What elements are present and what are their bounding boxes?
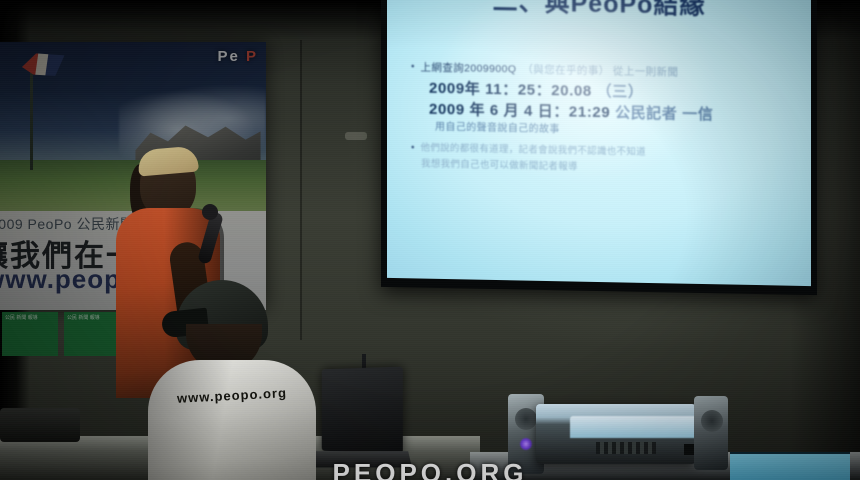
laptop-screen — [322, 367, 403, 454]
slide-title: 二、與PeoPo結緣 — [387, 0, 811, 24]
tshirt-shading — [148, 360, 316, 480]
laptop-keyboard — [304, 451, 412, 467]
presenter-headband — [137, 145, 199, 176]
poster-logo-accent: P — [246, 48, 258, 65]
speaker-right — [694, 396, 728, 470]
projector-rig — [508, 394, 728, 480]
slide-body: • 上網查詢2009900Q （與您在乎的事） 從上一則新聞 2009年 11：… — [411, 60, 801, 178]
speaker-cone-icon — [701, 410, 723, 432]
projection-screen: 二、與PeoPo結緣 • 上網查詢2009900Q （與您在乎的事） 從上一則新… — [387, 0, 811, 286]
presenter-laptop — [310, 368, 410, 480]
slide-line-1-tail: （三） — [597, 83, 644, 101]
poster-peopo-logo: Pe P — [217, 48, 258, 65]
blue-monitor — [730, 452, 850, 480]
slide-bullet-1-tail: （與您在乎的事） 從上一則新聞 — [522, 63, 678, 81]
slide-bullet-2-text: 他們說的都很有道理，記者會說我們不認識也不知道 — [421, 142, 646, 160]
video-frame: Pe P 2009 PeoPo 公民新聞獎頒獎典禮 讓我們在一起 www.peo… — [0, 0, 860, 480]
microphone-head-icon — [202, 204, 218, 220]
speaker-cone-icon — [515, 408, 537, 430]
door-handle — [345, 132, 367, 140]
table-projector — [536, 404, 696, 464]
slide-line-2-text: 2009 年 6 月 4 日：21:29 — [429, 101, 610, 121]
bullet-icon: • — [411, 141, 415, 155]
slide-bullet-1-text: 上網查詢2009900Q — [421, 61, 517, 78]
poster-logo-main: Pe — [217, 48, 239, 65]
table-device — [0, 408, 80, 442]
slide-line-1-text: 2009年 11：25：20.08 — [429, 80, 592, 100]
projector-vent — [596, 442, 656, 454]
green-box: 公民 新聞 報導 — [2, 312, 58, 356]
projection-screen-frame: 二、與PeoPo結緣 • 上網查詢2009900Q （與您在乎的事） 從上一則新… — [381, 0, 817, 295]
slide-line-2-tail: 公民記者 一信 — [615, 104, 713, 123]
power-led-indicator — [520, 438, 532, 450]
bullet-icon: • — [411, 60, 415, 74]
poster-pole — [30, 60, 33, 170]
audience-member-front-row: www.peopo.org — [148, 280, 316, 480]
